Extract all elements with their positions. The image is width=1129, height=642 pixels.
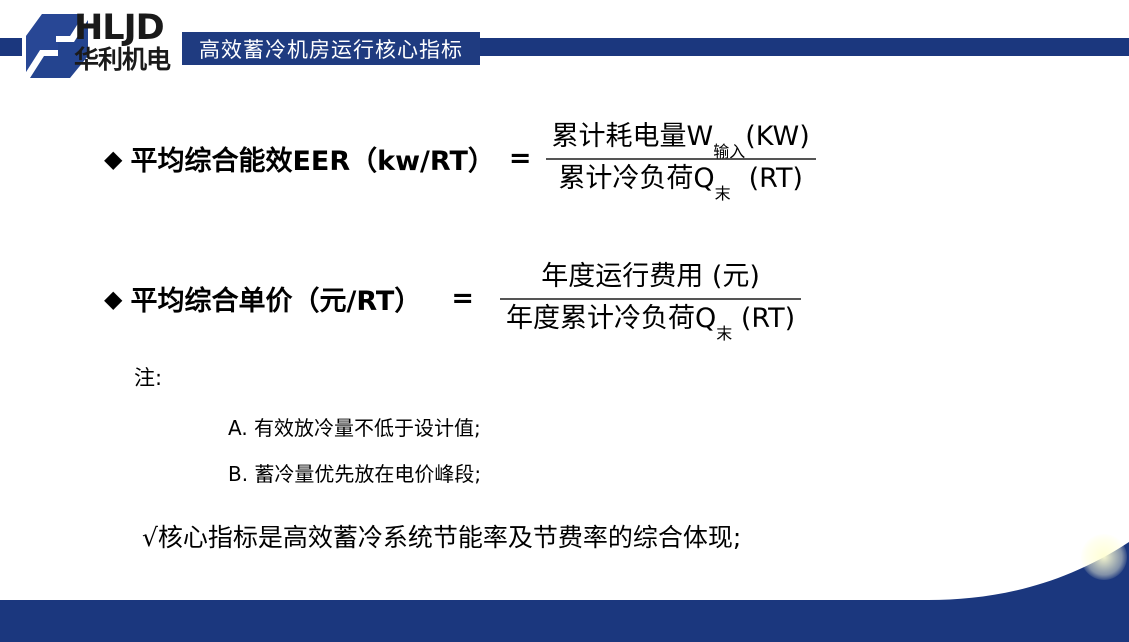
- formula-unit-price-label: 平均综合单价（元/RT）: [130, 279, 421, 318]
- formula-eer-denominator: 累计冷负荷Q末(RT): [552, 160, 809, 200]
- formula-eer-numerator: 累计耗电量W输入(KW): [546, 118, 816, 158]
- page-title: 高效蓄冷机房运行核心指标: [199, 34, 463, 64]
- numerator-subscript: 输入: [713, 142, 745, 161]
- numerator-unit: (KW): [745, 121, 810, 152]
- slide-canvas: 高效蓄冷机房运行核心指标 HLJD 华利机电 ◆ 平均综合能效EER（kw/RT…: [0, 0, 1129, 642]
- brand-name-cn: 华利机电: [74, 46, 192, 74]
- formula-unit-price-numerator: 年度运行费用 (元): [535, 258, 766, 298]
- slide-title-banner: 高效蓄冷机房运行核心指标: [182, 32, 480, 65]
- footer-glow-accent: [1081, 534, 1127, 580]
- numerator-base: 年度运行费用 (元): [541, 261, 760, 292]
- formula-eer-operator: =: [509, 143, 532, 174]
- numerator-base: 累计耗电量W: [552, 121, 714, 152]
- formula-unit-price: ◆ 平均综合单价（元/RT） = 年度运行费用 (元) 年度累计冷负荷Q末 (R…: [104, 258, 801, 340]
- denominator-base: 年度累计冷负荷Q: [506, 303, 716, 334]
- bullet-diamond-icon: ◆: [104, 147, 122, 171]
- brand-wordmark: HLJD 华利机电: [74, 10, 192, 80]
- header-accent-rule-right: [470, 42, 1129, 53]
- brand-acronym: HLJD: [74, 10, 192, 46]
- formula-unit-price-operator: =: [451, 283, 474, 314]
- brand-logo: HLJD 华利机电: [16, 8, 186, 80]
- formula-unit-price-denominator: 年度累计冷负荷Q末 (RT): [500, 300, 801, 340]
- note-item: A. 有效放冷量不低于设计值;: [228, 412, 481, 441]
- denominator-subscript: 末: [715, 184, 731, 203]
- bullet-diamond-icon: ◆: [104, 287, 122, 311]
- denominator-unit: (RT): [741, 303, 795, 334]
- notes-label: 注:: [134, 362, 162, 392]
- note-item: B. 蓄冷量优先放在电价峰段;: [228, 458, 481, 487]
- formula-eer-label: 平均综合能效EER（kw/RT）: [130, 139, 494, 178]
- denominator-subscript: 末: [716, 324, 732, 343]
- formula-unit-price-fraction: 年度运行费用 (元) 年度累计冷负荷Q末 (RT): [500, 258, 801, 340]
- formula-eer-fraction: 累计耗电量W输入(KW) 累计冷负荷Q末(RT): [546, 118, 816, 200]
- denominator-unit: (RT): [749, 163, 803, 194]
- conclusion-text: √核心指标是高效蓄冷系统节能率及节费率的综合体现;: [142, 518, 741, 554]
- formula-eer: ◆ 平均综合能效EER（kw/RT） = 累计耗电量W输入(KW) 累计冷负荷Q…: [104, 118, 816, 200]
- denominator-base: 累计冷负荷Q: [558, 163, 714, 194]
